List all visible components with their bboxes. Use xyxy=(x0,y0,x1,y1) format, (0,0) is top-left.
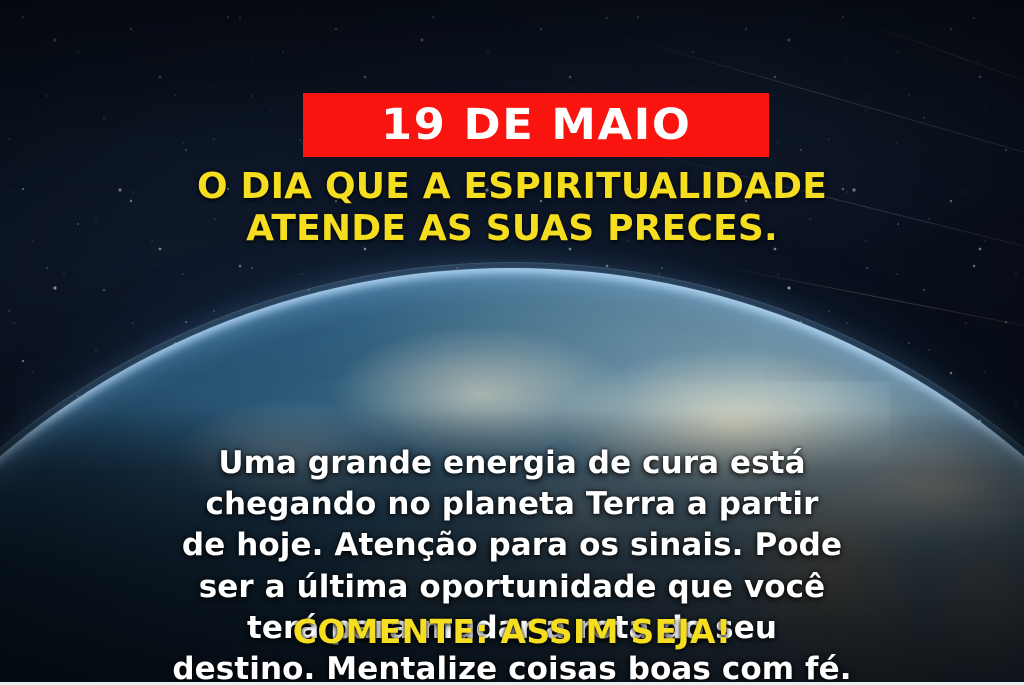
date-banner-label: 19 DE MAIO xyxy=(381,104,691,147)
date-banner: 19 DE MAIO xyxy=(303,93,769,157)
body-line-4: ser a última oportunidade que você xyxy=(50,567,974,608)
body-line-2: chegando no planeta Terra a partir xyxy=(50,484,974,525)
poster-content: 19 DE MAIO O DIA QUE A ESPIRITUALIDADE A… xyxy=(0,0,1024,685)
body-line-3: de hoje. Atenção para os sinais. Pode xyxy=(50,525,974,566)
headline: O DIA QUE A ESPIRITUALIDADE ATENDE AS SU… xyxy=(0,166,1024,250)
poster-canvas: 19 DE MAIO O DIA QUE A ESPIRITUALIDADE A… xyxy=(0,0,1024,685)
headline-line-2: ATENDE AS SUAS PRECES. xyxy=(0,208,1024,250)
call-to-action-text: COMENTE: ASSIM SEJA! xyxy=(0,614,1024,650)
headline-line-1: O DIA QUE A ESPIRITUALIDADE xyxy=(0,166,1024,208)
body-line-1: Uma grande energia de cura está xyxy=(50,443,974,484)
body-line-6: destino. Mentalize coisas boas com fé. xyxy=(50,649,974,685)
